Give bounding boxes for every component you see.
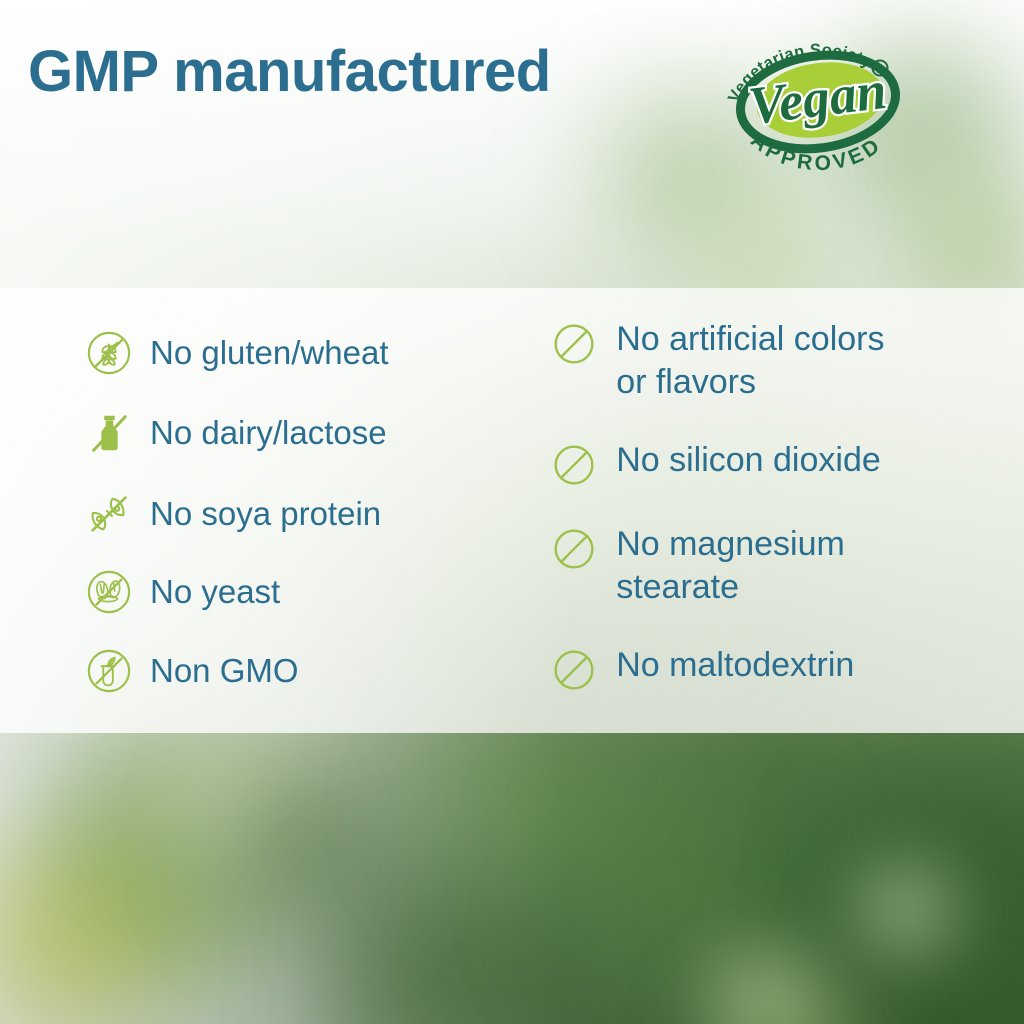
feature-column-right: No artificial colors or flavors No silic… — [536, 288, 1024, 733]
feature-item-no-magnesium-stearate: No magnesium stearate — [552, 527, 845, 609]
prohibition-icon — [552, 527, 596, 571]
feature-item-no-soya-protein: No soya protein — [86, 491, 381, 537]
feature-label: No magnesium stearate — [616, 523, 845, 609]
feature-item-no-dairy-lactose: No dairy/lactose — [86, 410, 387, 456]
feature-label: No maltodextrin — [616, 644, 854, 687]
feature-item-no-yeast: No yeast — [86, 569, 280, 615]
feature-label: No silicon dioxide — [616, 439, 881, 482]
feature-item-no-maltodextrin: No maltodextrin — [552, 648, 854, 692]
feature-item-no-silicon-dioxide: No silicon dioxide — [552, 443, 881, 487]
feature-column-left: No gluten/wheat No dairy/lactose — [0, 288, 536, 733]
feature-item-non-gmo: Non GMO — [86, 648, 299, 694]
prohibition-icon — [552, 322, 596, 366]
prohibition-icon — [552, 648, 596, 692]
page-title: GMP manufactured — [28, 38, 551, 105]
feature-label: No artificial colors or flavors — [616, 318, 884, 404]
no-dairy-icon — [86, 410, 132, 456]
no-yeast-icon — [86, 569, 132, 615]
feature-item-no-gluten-wheat: No gluten/wheat — [86, 330, 389, 376]
prohibition-icon — [552, 443, 596, 487]
product-infographic: GMP manufactured Vegetarian Society Vega… — [0, 0, 1024, 1024]
feature-label: No soya protein — [150, 493, 381, 535]
feature-label: No yeast — [150, 571, 280, 613]
feature-label: Non GMO — [150, 650, 299, 692]
logo-registered-mark: R — [877, 65, 884, 75]
feature-label: No gluten/wheat — [150, 332, 389, 374]
vegan-approved-logo: Vegetarian Society Vegan R APPROVED — [712, 24, 924, 174]
no-soya-icon — [86, 491, 132, 537]
feature-label: No dairy/lactose — [150, 412, 387, 454]
no-gmo-icon — [86, 648, 132, 694]
feature-columns: No gluten/wheat No dairy/lactose — [0, 288, 1024, 733]
no-wheat-icon — [86, 330, 132, 376]
feature-item-no-artificial-colors-flavors: No artificial colors or flavors — [552, 322, 884, 404]
